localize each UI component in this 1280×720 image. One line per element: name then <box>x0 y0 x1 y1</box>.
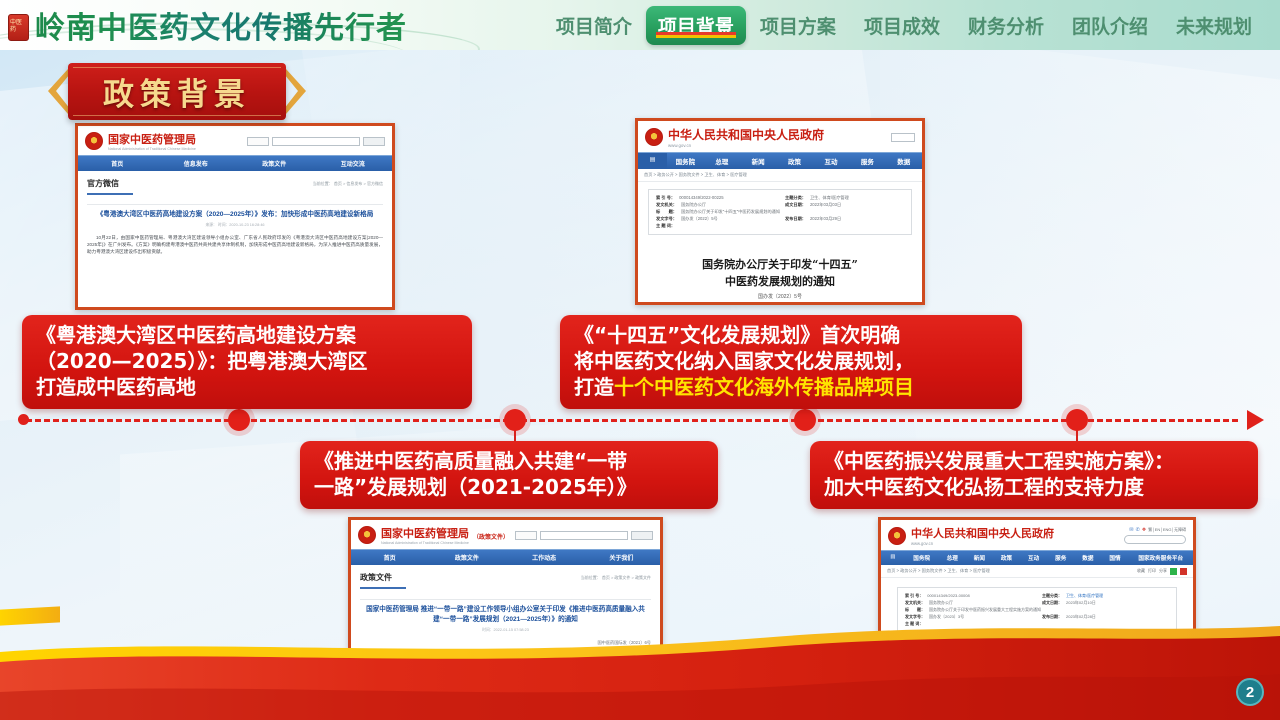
site-nav-item-service[interactable]: 服务 <box>1047 551 1074 565</box>
metadata-key: 成文日期： <box>785 202 806 208</box>
site-nav-item-service[interactable]: 服务 <box>849 153 885 169</box>
callout-line-1: 《中医药振兴发展重大工程实施方案》： <box>824 448 1244 474</box>
metadata-key: 发文机关： <box>656 202 677 208</box>
policy-callout-belt-and-road: 《推进中医药高质量融入共建“一带 一路”发展规划（2021-2025年）》 <box>300 441 718 509</box>
site-header: 国家中医药管理局 （政策文件） National Administration … <box>351 520 660 549</box>
site-subtitle: National Administration of Traditional C… <box>108 147 196 151</box>
site-nav-item-data[interactable]: 数据 <box>886 153 922 169</box>
site-nav-item-national-info[interactable]: 国情 <box>1101 551 1128 565</box>
weibo-share-icon[interactable] <box>1180 568 1187 575</box>
timeline-dot-2 <box>504 409 526 431</box>
site-nav-item-news[interactable]: 信息发布 <box>157 156 236 171</box>
site-nav-item-policy[interactable]: 政策 <box>776 153 812 169</box>
nav-tab-financial-analysis[interactable]: 财务分析 <box>954 8 1058 43</box>
document-title-line1: 国务院办公厅关于印发“十四五” <box>648 256 912 273</box>
search-input[interactable] <box>891 133 915 142</box>
site-nav-item-interact[interactable]: 互动交流 <box>314 156 393 171</box>
nav-tab-project-intro[interactable]: 项目简介 <box>542 8 646 43</box>
lang-links[interactable]: 繁│EN│ENG│无障碍 <box>1148 527 1186 533</box>
divider <box>87 204 383 205</box>
section-underline <box>360 587 406 589</box>
share-button[interactable]: 分享 <box>1159 568 1167 574</box>
page-number-badge: 2 <box>1236 678 1264 706</box>
site-search[interactable] <box>515 531 653 540</box>
metadata-value: 2022年03月03日 <box>810 202 841 208</box>
section-title-ribbon: 政策背景 <box>46 63 308 120</box>
metadata-key: 索 引 号： <box>905 593 923 599</box>
site-name: 国家中医药管理局 <box>381 525 469 541</box>
site-nav-item-data[interactable]: 数据 <box>1074 551 1101 565</box>
metadata-row: 标 题： 国务院办公厅关于印发“十四五”中医药发展规划的通知 <box>656 209 904 215</box>
wechat-share-icon[interactable] <box>1170 568 1177 575</box>
timeline-dot-1 <box>228 409 250 431</box>
site-tag: （政策文件） <box>473 532 509 541</box>
document-paragraph: 10月22日，由国家中医药管理局、粤港澳大湾区建设领导小组办公室、广东省人民政府… <box>87 234 383 255</box>
document-title-line2: 中医药发展规划的通知 <box>648 273 912 290</box>
nav-tab-project-plan[interactable]: 项目方案 <box>746 8 850 43</box>
breadcrumb: 首页 > 政务公开 > 国务院文件 > 卫生、体育 > 医疗管理 <box>638 169 922 182</box>
site-nav-item-home[interactable]: 首页 <box>351 550 428 565</box>
search-button[interactable] <box>363 137 385 146</box>
policy-callout-revitalization-project: 《中医药振兴发展重大工程实施方案》： 加大中医药文化弘扬工程的支持力度 <box>810 441 1258 509</box>
metadata-value: 国务院办公厅关于印发“十四五”中医药发展规划的通知 <box>681 209 780 215</box>
callout-highlight-text: 十个中医药文化海外传播品牌项目 <box>614 375 914 399</box>
callout-line-1: 《粤港澳大湾区中医药高地建设方案 <box>36 322 458 348</box>
metadata-key: 主题分类： <box>785 195 806 201</box>
nav-tab-project-background[interactable]: 项目背景 <box>646 6 746 45</box>
site-nav: ▤ 国务院 总理 新闻 政策 互动 服务 数据 国情 国家政务服务平台 <box>881 550 1193 565</box>
callout-line-2: 加大中医药文化弘扬工程的支持力度 <box>824 474 1244 500</box>
callout-line-1: 《“十四五”文化发展规划》首次明确 <box>574 322 1008 348</box>
callout-line-1: 《推进中医药高质量融入共建“一带 <box>314 448 704 474</box>
metadata-value: 卫生、体育\医疗管理 <box>810 195 849 201</box>
timeline-dot-4 <box>1066 409 1088 431</box>
document-screenshot-gov-14th5yr[interactable]: 中华人民共和国中央人民政府 www.gov.cn ▤ 国务院 总理 新闻 政策 … <box>635 118 925 305</box>
document-metadata-table: 索 引 号： 000014349/2022-00225 主题分类： 卫生、体育\… <box>648 189 912 235</box>
metadata-key: 发文字号： <box>656 216 677 222</box>
search-input[interactable] <box>1124 535 1186 544</box>
site-nav-item-interact[interactable]: 互动 <box>1020 551 1047 565</box>
site-header: 中华人民共和国中央人民政府 www.gov.cn <box>638 121 922 152</box>
seal-text: 中医药 <box>10 20 27 34</box>
bottom-wave-decoration <box>0 600 1280 720</box>
metadata-value: 卫生、体育\医疗管理 <box>1066 593 1103 599</box>
metadata-key: 索 引 号： <box>656 195 675 201</box>
document-section-tab: 官方微信 <box>87 178 119 189</box>
site-nav-item-updates[interactable]: 工作动态 <box>506 550 583 565</box>
document-body: 官方微信 当前位置： 首页 > 信息发布 > 官方微信 《粤港澳大湾区中医药高地… <box>78 171 392 262</box>
document-screenshot-natcm-guangdong[interactable]: 国家中医药管理局 National Administration of Trad… <box>75 123 395 310</box>
site-nav-item-state-council[interactable]: 国务院 <box>667 153 703 169</box>
metadata-row: 成文日期： 2022年03月03日 <box>785 202 904 208</box>
nav-tab-team-intro[interactable]: 团队介绍 <box>1058 8 1162 43</box>
metadata-key: 主题分类： <box>1042 593 1062 599</box>
timeline-axis <box>18 418 1264 422</box>
mail-icon[interactable]: ✉ <box>1129 527 1133 533</box>
metadata-key: 发布日期： <box>785 216 806 222</box>
breadcrumb: 当前位置： 首页 > 信息发布 > 官方微信 <box>313 181 383 187</box>
brand-title: 岭南中医药文化传播先行者 <box>35 3 407 47</box>
site-name: 中华人民共和国中央人民政府 <box>668 126 824 143</box>
metadata-value: 000014349/2023-00008 <box>927 593 970 598</box>
favorite-button[interactable]: 收藏 <box>1137 568 1145 574</box>
nav-tab-future-plan[interactable]: 未来规划 <box>1162 8 1266 43</box>
metadata-row: 发布日期： 2022年03月29日 <box>785 216 904 222</box>
timeline-dashed-line <box>26 419 1238 422</box>
site-nav-item-interact[interactable]: 互动 <box>813 153 849 169</box>
site-nav-item-news[interactable]: 新闻 <box>966 551 993 565</box>
metadata-row: 发文机关： 国务院办公厅 <box>656 202 775 208</box>
site-nav-item-premier[interactable]: 总理 <box>939 551 966 565</box>
breadcrumb: 首页 > 政务公开 > 国务院文件 > 卫生、体育 > 医疗管理 <box>881 565 996 577</box>
site-nav: 首页 信息发布 政策文件 互动交流 <box>78 155 392 171</box>
metadata-value: 国务院办公厅 <box>681 202 706 208</box>
rss-icon[interactable]: ❖ <box>1142 527 1146 533</box>
seal-icon: 中医药 <box>8 14 29 41</box>
site-nav-item-state-council[interactable]: 国务院 <box>905 551 939 565</box>
callout-line-3: 打造十个中医药文化海外传播品牌项目 <box>574 374 1008 400</box>
document-section-tab: 政策文件 <box>360 572 392 583</box>
national-emblem-icon <box>645 128 663 146</box>
site-nav-item-policy[interactable]: 政策文件 <box>235 156 314 171</box>
search-category-select[interactable] <box>247 137 269 146</box>
national-emblem-icon <box>85 132 103 150</box>
search-button[interactable] <box>631 531 653 540</box>
utility-icons[interactable]: ✉ ✆ ❖ 繁│EN│ENG│无障碍 <box>1129 527 1186 533</box>
national-emblem-icon <box>888 527 906 545</box>
site-url: www.gov.cn <box>668 143 824 148</box>
phone-icon[interactable]: ✆ <box>1136 527 1140 533</box>
site-nav: ▤ 国务院 总理 新闻 政策 互动 服务 数据 <box>638 152 922 169</box>
main-nav: 项目简介 项目背景 项目方案 项目成效 财务分析 团队介绍 未来规划 <box>542 0 1266 50</box>
metadata-value: 000014349/2022-00225 <box>679 195 723 200</box>
callout-line-2: 将中医药文化纳入国家文化发展规划， <box>574 348 1008 374</box>
national-emblem-icon <box>358 526 376 544</box>
print-button[interactable]: 打印 <box>1148 568 1156 574</box>
doc-toolbar[interactable]: 收藏 打印 分享 <box>1137 568 1193 575</box>
site-nav: 首页 政策文件 工作动态 关于我们 <box>351 549 660 565</box>
site-search[interactable] <box>891 133 915 142</box>
nav-tab-project-results[interactable]: 项目成效 <box>850 8 954 43</box>
site-header: 中华人民共和国中央人民政府 www.gov.cn ✉ ✆ ❖ 繁│EN│ENG│… <box>881 520 1193 550</box>
document-title-block: 国务院办公厅关于印发“十四五” 中医药发展规划的通知 国办发〔2022〕5号 <box>638 242 922 300</box>
callout-line-2: 一路”发展规划（2021-2025年）》 <box>314 474 704 500</box>
policy-callout-cultural-development-plan: 《“十四五”文化发展规划》首次明确 将中医药文化纳入国家文化发展规划， 打造十个… <box>560 315 1022 409</box>
section-title-text: 政策背景 <box>68 63 286 120</box>
section-underline <box>87 193 133 195</box>
callout-line-3: 打造成中医药高地 <box>36 374 458 400</box>
site-search[interactable] <box>247 137 385 146</box>
search-category-select[interactable] <box>515 531 537 540</box>
slide-canvas: 中医药 岭南中医药文化传播先行者 项目简介 项目背景 项目方案 项目成效 财务分… <box>0 0 1280 720</box>
metadata-row: 主 题 词： <box>656 223 775 229</box>
callout-line-2: （2020—2025）》：把粤港澳大湾区 <box>36 348 458 374</box>
metadata-row: 索 引 号： 000014349/2022-00225 <box>656 195 775 201</box>
top-header-bar: 中医药 岭南中医药文化传播先行者 项目简介 项目背景 项目方案 项目成效 财务分… <box>0 0 1280 50</box>
site-name: 中华人民共和国中央人民政府 <box>911 525 1054 541</box>
timeline-dot-3 <box>794 409 816 431</box>
site-nav-item-policy[interactable]: 政策 <box>993 551 1020 565</box>
site-subtitle: National Administration of Traditional C… <box>381 541 509 545</box>
metadata-value: 国办发〔2022〕5号 <box>681 216 718 222</box>
site-header: 国家中医药管理局 National Administration of Trad… <box>78 126 392 155</box>
metadata-row: 发文字号： 国办发〔2022〕5号 <box>656 216 775 222</box>
metadata-key: 标 题： <box>656 209 677 215</box>
metadata-value: 2022年03月29日 <box>810 216 841 222</box>
site-nav-item-about[interactable]: 关于我们 <box>583 550 660 565</box>
document-number: 国办发〔2022〕5号 <box>648 293 912 300</box>
breadcrumb: 当前位置： 首页 > 政策文件 > 政策文件 <box>581 575 651 581</box>
site-url: www.gov.cn <box>911 541 1054 546</box>
search-input[interactable] <box>272 137 360 146</box>
metadata-row: 主题分类： 卫生、体育\医疗管理 <box>785 195 904 201</box>
search-input[interactable] <box>540 531 628 540</box>
brand-logo: 中医药 岭南中医药文化传播先行者 <box>8 3 407 47</box>
document-meta: 来源： 时间：2020-10-23 16:28:46 <box>87 223 383 228</box>
metadata-row: 主题分类： 卫生、体育\医疗管理 <box>1042 593 1169 599</box>
metadata-key: 主 题 词： <box>656 223 675 229</box>
site-name: 国家中医药管理局 <box>108 131 196 147</box>
nav-active-underline <box>656 32 736 35</box>
document-headline: 《粤港澳大湾区中医药高地建设方案（2020—2025年）》发布：加快形成中医药高… <box>87 210 383 220</box>
site-nav-item-home-icon[interactable]: ▤ <box>638 153 667 169</box>
site-nav-item-news[interactable]: 新闻 <box>740 153 776 169</box>
timeline-arrow-icon <box>1247 410 1264 430</box>
site-nav-item-home-icon[interactable]: ▤ <box>881 551 905 565</box>
nav-tab-project-background-label: 项目背景 <box>658 16 734 38</box>
callout-line-3-prefix: 打造 <box>574 375 614 399</box>
policy-callout-greater-bay-area: 《粤港澳大湾区中医药高地建设方案 （2020—2025）》：把粤港澳大湾区 打造… <box>22 315 472 409</box>
site-nav-item-service-platform[interactable]: 国家政务服务平台 <box>1129 551 1193 565</box>
site-utility-area[interactable]: ✉ ✆ ❖ 繁│EN│ENG│无障碍 <box>1124 527 1186 544</box>
site-nav-item-premier[interactable]: 总理 <box>704 153 740 169</box>
site-nav-item-policy[interactable]: 政策文件 <box>428 550 505 565</box>
site-nav-item-home[interactable]: 首页 <box>78 156 157 171</box>
metadata-row: 索 引 号： 000014349/2023-00008 <box>905 593 1032 599</box>
